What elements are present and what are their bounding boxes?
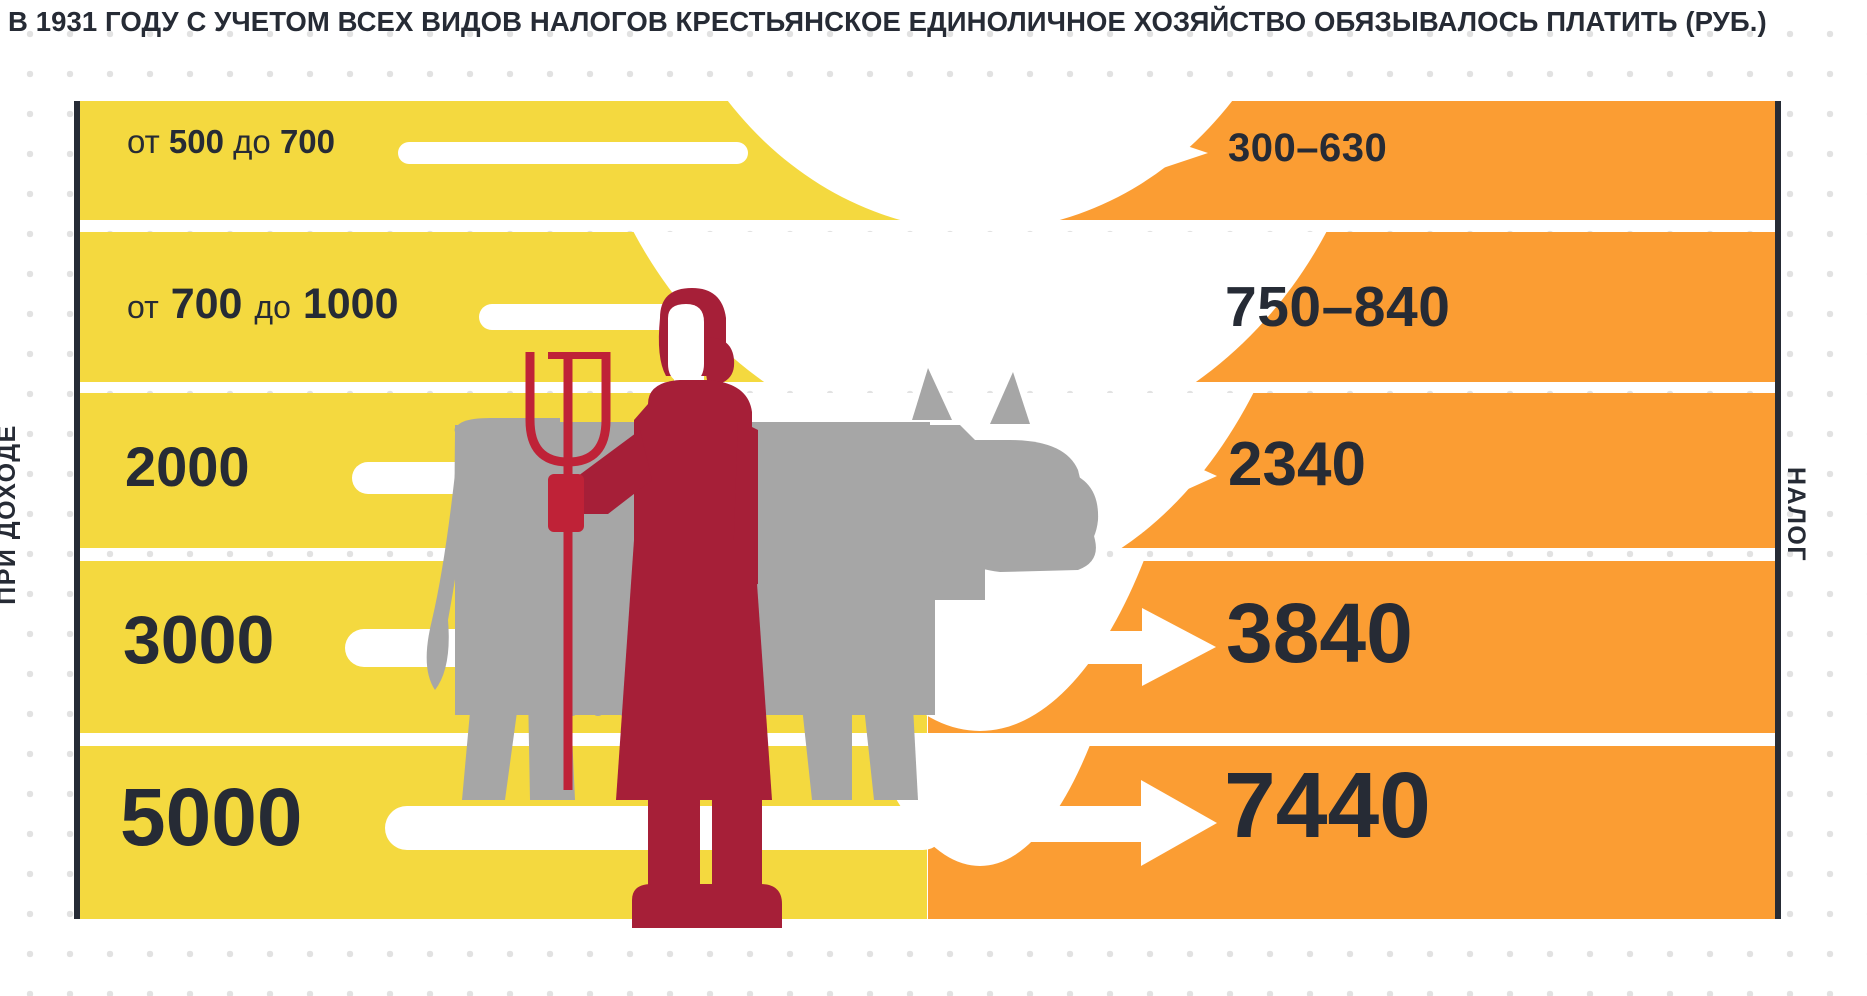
- income-connector-5: [385, 806, 945, 850]
- tax-label-2: 750–840: [1225, 279, 1450, 336]
- tax-value-3: 2340: [1228, 430, 1366, 499]
- tax-arrow-2: [890, 293, 1210, 339]
- tax-arrow-1: [960, 137, 1210, 169]
- income-to-1: 700: [280, 123, 335, 160]
- income-value-4: 3000: [123, 602, 274, 678]
- income-from-2: 700: [171, 280, 243, 328]
- income-connector-2: [479, 304, 817, 330]
- income-value-3: 2000: [125, 435, 250, 498]
- page-title: В 1931 ГОДУ С УЧЕТОМ ВСЕХ ВИДОВ НАЛОГОВ …: [8, 4, 1863, 40]
- tax-value-2: 750–840: [1225, 275, 1450, 339]
- income-label-4: 3000: [123, 606, 274, 674]
- tax-label-5: 7440: [1224, 759, 1431, 852]
- income-mid-2: до: [254, 289, 290, 325]
- infographic-chart: от 500 до 700 от 700 до 1000 2000 3000 5…: [74, 101, 1781, 919]
- bands-stage: от 500 до 700 от 700 до 1000 2000 3000 5…: [80, 101, 1775, 919]
- income-connector-3: [352, 462, 872, 494]
- tax-arrow-4: [886, 608, 1216, 686]
- income-connector-4: [345, 629, 905, 667]
- income-to-2: 1000: [303, 280, 399, 328]
- tax-value-1: 300–630: [1228, 126, 1387, 170]
- tax-arrow-5: [897, 780, 1217, 866]
- income-label-3: 2000: [125, 439, 250, 495]
- income-prefix-2: от: [127, 289, 159, 325]
- band-row-1: [80, 101, 1775, 220]
- income-prefix-1: от: [127, 123, 160, 160]
- income-mid-1: до: [233, 123, 271, 160]
- income-label-2: от 700 до 1000: [127, 283, 399, 326]
- right-axis-caption: НАЛОГ: [1781, 467, 1810, 562]
- tax-value-5: 7440: [1224, 753, 1431, 857]
- tax-label-1: 300–630: [1228, 128, 1387, 168]
- income-connector-1: [398, 142, 748, 164]
- left-axis-caption: ПРИ ДОХОДЕ: [0, 424, 22, 605]
- tax-label-3: 2340: [1228, 434, 1366, 496]
- income-label-5: 5000: [120, 777, 302, 859]
- income-label-1: от 500 до 700: [127, 125, 335, 158]
- income-from-1: 500: [169, 123, 224, 160]
- left-axis-rule: [74, 101, 80, 919]
- income-value-5: 5000: [120, 772, 302, 863]
- tax-label-4: 3840: [1226, 591, 1413, 675]
- tax-value-4: 3840: [1226, 586, 1413, 680]
- tax-arrow-3: [905, 449, 1217, 503]
